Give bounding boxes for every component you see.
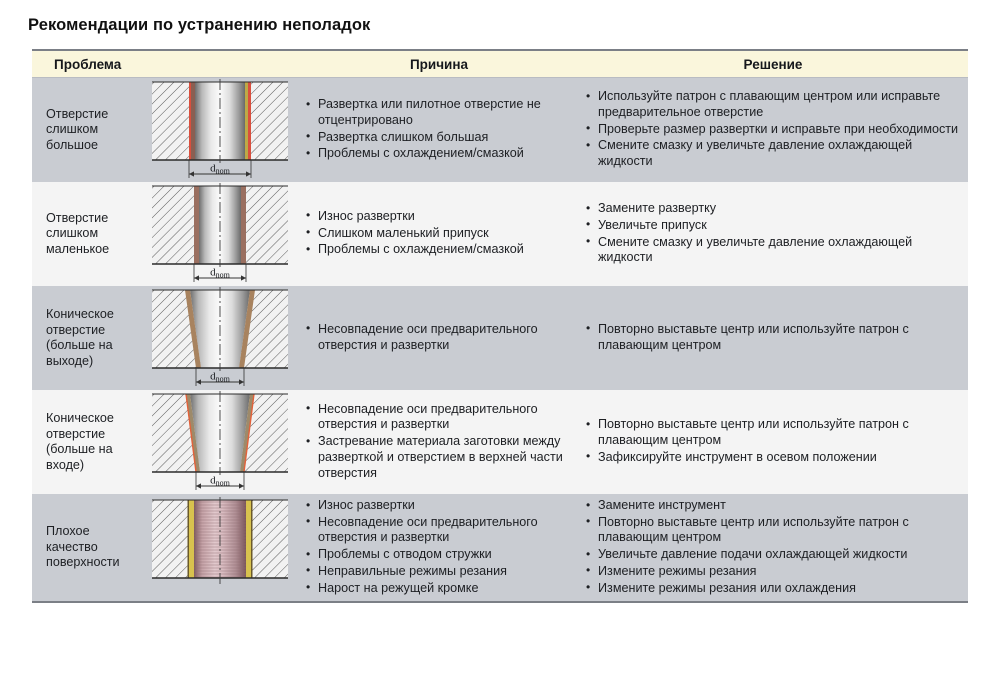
list-item: Слишком маленький припуск — [304, 226, 572, 242]
cell-problem: Отверстие слишком большое — [32, 78, 140, 183]
cell-cause-list: Несовпадение оси предварительного отверс… — [304, 322, 572, 353]
svg-text:dnom: dnom — [210, 371, 231, 384]
cell-solution-list: Замените инструментПовторно выставьте це… — [584, 498, 962, 596]
cell-cause: Несовпадение оси предварительного отверс… — [300, 390, 578, 494]
list-item: Износ развертки — [304, 209, 572, 225]
column-header-problem: Проблема — [32, 51, 300, 78]
bore-rough-surface-diagram — [148, 496, 292, 600]
list-item: Повторно выставьте центр или используйте… — [584, 322, 962, 353]
column-header-solution: Решение — [578, 51, 968, 78]
cell-cause-list: Износ разверткиНесовпадение оси предвари… — [304, 498, 572, 596]
list-item: Замените развертку — [584, 201, 962, 217]
list-item: Повторно выставьте центр или используйте… — [584, 515, 962, 546]
list-item: Измените режимы резания или охлаждения — [584, 581, 962, 597]
bore-undersize-diagram: dnom — [148, 182, 292, 286]
cell-figure: dnom — [140, 286, 300, 390]
table-row: Отверстие слишком большое — [32, 78, 968, 183]
list-item: Несовпадение оси предварительного отверс… — [304, 402, 572, 433]
cell-solution-list: Используйте патрон с плавающим центром и… — [584, 89, 962, 170]
list-item: Смените смазку и увеличьте давление охла… — [584, 138, 962, 169]
cell-cause-list: Износ разверткиСлишком маленький припуск… — [304, 209, 572, 258]
table-row: Плохое качество поверхности Износ раз — [32, 494, 968, 601]
bore-oversize-diagram: dnom — [148, 78, 292, 182]
table-header-row: Проблема Причина Решение — [32, 51, 968, 78]
cell-problem: Плохое качество поверхности — [32, 494, 140, 601]
troubleshooting-table-container: Проблема Причина Решение Отверстие слишк… — [32, 49, 968, 603]
cell-solution: Замените инструментПовторно выставьте це… — [578, 494, 968, 601]
table-row: Коническое отверстие (больше на выходе) — [32, 286, 968, 390]
table-row: Отверстие слишком маленькое dno — [32, 182, 968, 286]
cell-problem: Отверстие слишком маленькое — [32, 182, 140, 286]
cell-solution-list: Замените разверткуУвеличьте припускСмени… — [584, 201, 962, 266]
list-item: Замените инструмент — [584, 498, 962, 514]
list-item: Проблемы с охлаждением/смазкой — [304, 242, 572, 258]
cell-solution: Используйте патрон с плавающим центром и… — [578, 78, 968, 183]
list-item: Увеличьте давление подачи охлаждающей жи… — [584, 547, 962, 563]
cell-solution: Повторно выставьте центр или используйте… — [578, 390, 968, 494]
list-item: Проблемы с охлаждением/смазкой — [304, 146, 572, 162]
cell-problem: Коническое отверстие (больше на выходе) — [32, 286, 140, 390]
cell-cause-list: Несовпадение оси предварительного отверс… — [304, 402, 572, 482]
list-item: Используйте патрон с плавающим центром и… — [584, 89, 962, 120]
cell-cause: Износ разверткиНесовпадение оси предвари… — [300, 494, 578, 601]
cell-cause-list: Развертка или пилотное отверстие не отце… — [304, 97, 572, 162]
cell-problem: Коническое отверстие (больше на входе) — [32, 390, 140, 494]
cell-solution: Повторно выставьте центр или используйте… — [578, 286, 968, 390]
table-body: Отверстие слишком большое — [32, 78, 968, 602]
svg-text:dnom: dnom — [210, 163, 231, 176]
cell-solution: Замените разверткуУвеличьте припускСмени… — [578, 182, 968, 286]
list-item: Износ развертки — [304, 498, 572, 514]
svg-text:dnom: dnom — [210, 475, 231, 488]
list-item: Зафиксируйте инструмент в осевом положен… — [584, 450, 962, 466]
list-item: Застревание материала заготовки между ра… — [304, 434, 572, 481]
bore-taper-exit-diagram: dnom — [148, 286, 292, 390]
cell-solution-list: Повторно выставьте центр или используйте… — [584, 322, 962, 353]
troubleshooting-table: Проблема Причина Решение Отверстие слишк… — [32, 51, 968, 601]
list-item: Развертка или пилотное отверстие не отце… — [304, 97, 572, 128]
column-header-cause: Причина — [300, 51, 578, 78]
list-item: Неправильные режимы резания — [304, 564, 572, 580]
list-item: Измените режимы резания — [584, 564, 962, 580]
cell-cause: Износ разверткиСлишком маленький припуск… — [300, 182, 578, 286]
cell-figure: dnom — [140, 78, 300, 183]
cell-cause: Развертка или пилотное отверстие не отце… — [300, 78, 578, 183]
page-title: Рекомендации по устранению неполадок — [0, 0, 990, 35]
list-item: Нарост на режущей кромке — [304, 581, 572, 597]
bore-taper-entry-diagram: dnom — [148, 390, 292, 494]
cell-cause: Несовпадение оси предварительного отверс… — [300, 286, 578, 390]
cell-solution-list: Повторно выставьте центр или используйте… — [584, 417, 962, 465]
cell-figure: dnom — [140, 182, 300, 286]
cell-figure — [140, 494, 300, 601]
table-header: Проблема Причина Решение — [32, 51, 968, 78]
list-item: Проблемы с отводом стружки — [304, 547, 572, 563]
list-item: Смените смазку и увеличьте давление охла… — [584, 235, 962, 266]
svg-text:dnom: dnom — [210, 267, 231, 280]
list-item: Несовпадение оси предварительного отверс… — [304, 322, 572, 353]
list-item: Повторно выставьте центр или используйте… — [584, 417, 962, 448]
list-item: Развертка слишком большая — [304, 130, 572, 146]
list-item: Увеличьте припуск — [584, 218, 962, 234]
list-item: Несовпадение оси предварительного отверс… — [304, 515, 572, 546]
cell-figure: dnom — [140, 390, 300, 494]
list-item: Проверьте размер развертки и исправьте п… — [584, 122, 962, 138]
table-row: Коническое отверстие (больше на входе) — [32, 390, 968, 494]
